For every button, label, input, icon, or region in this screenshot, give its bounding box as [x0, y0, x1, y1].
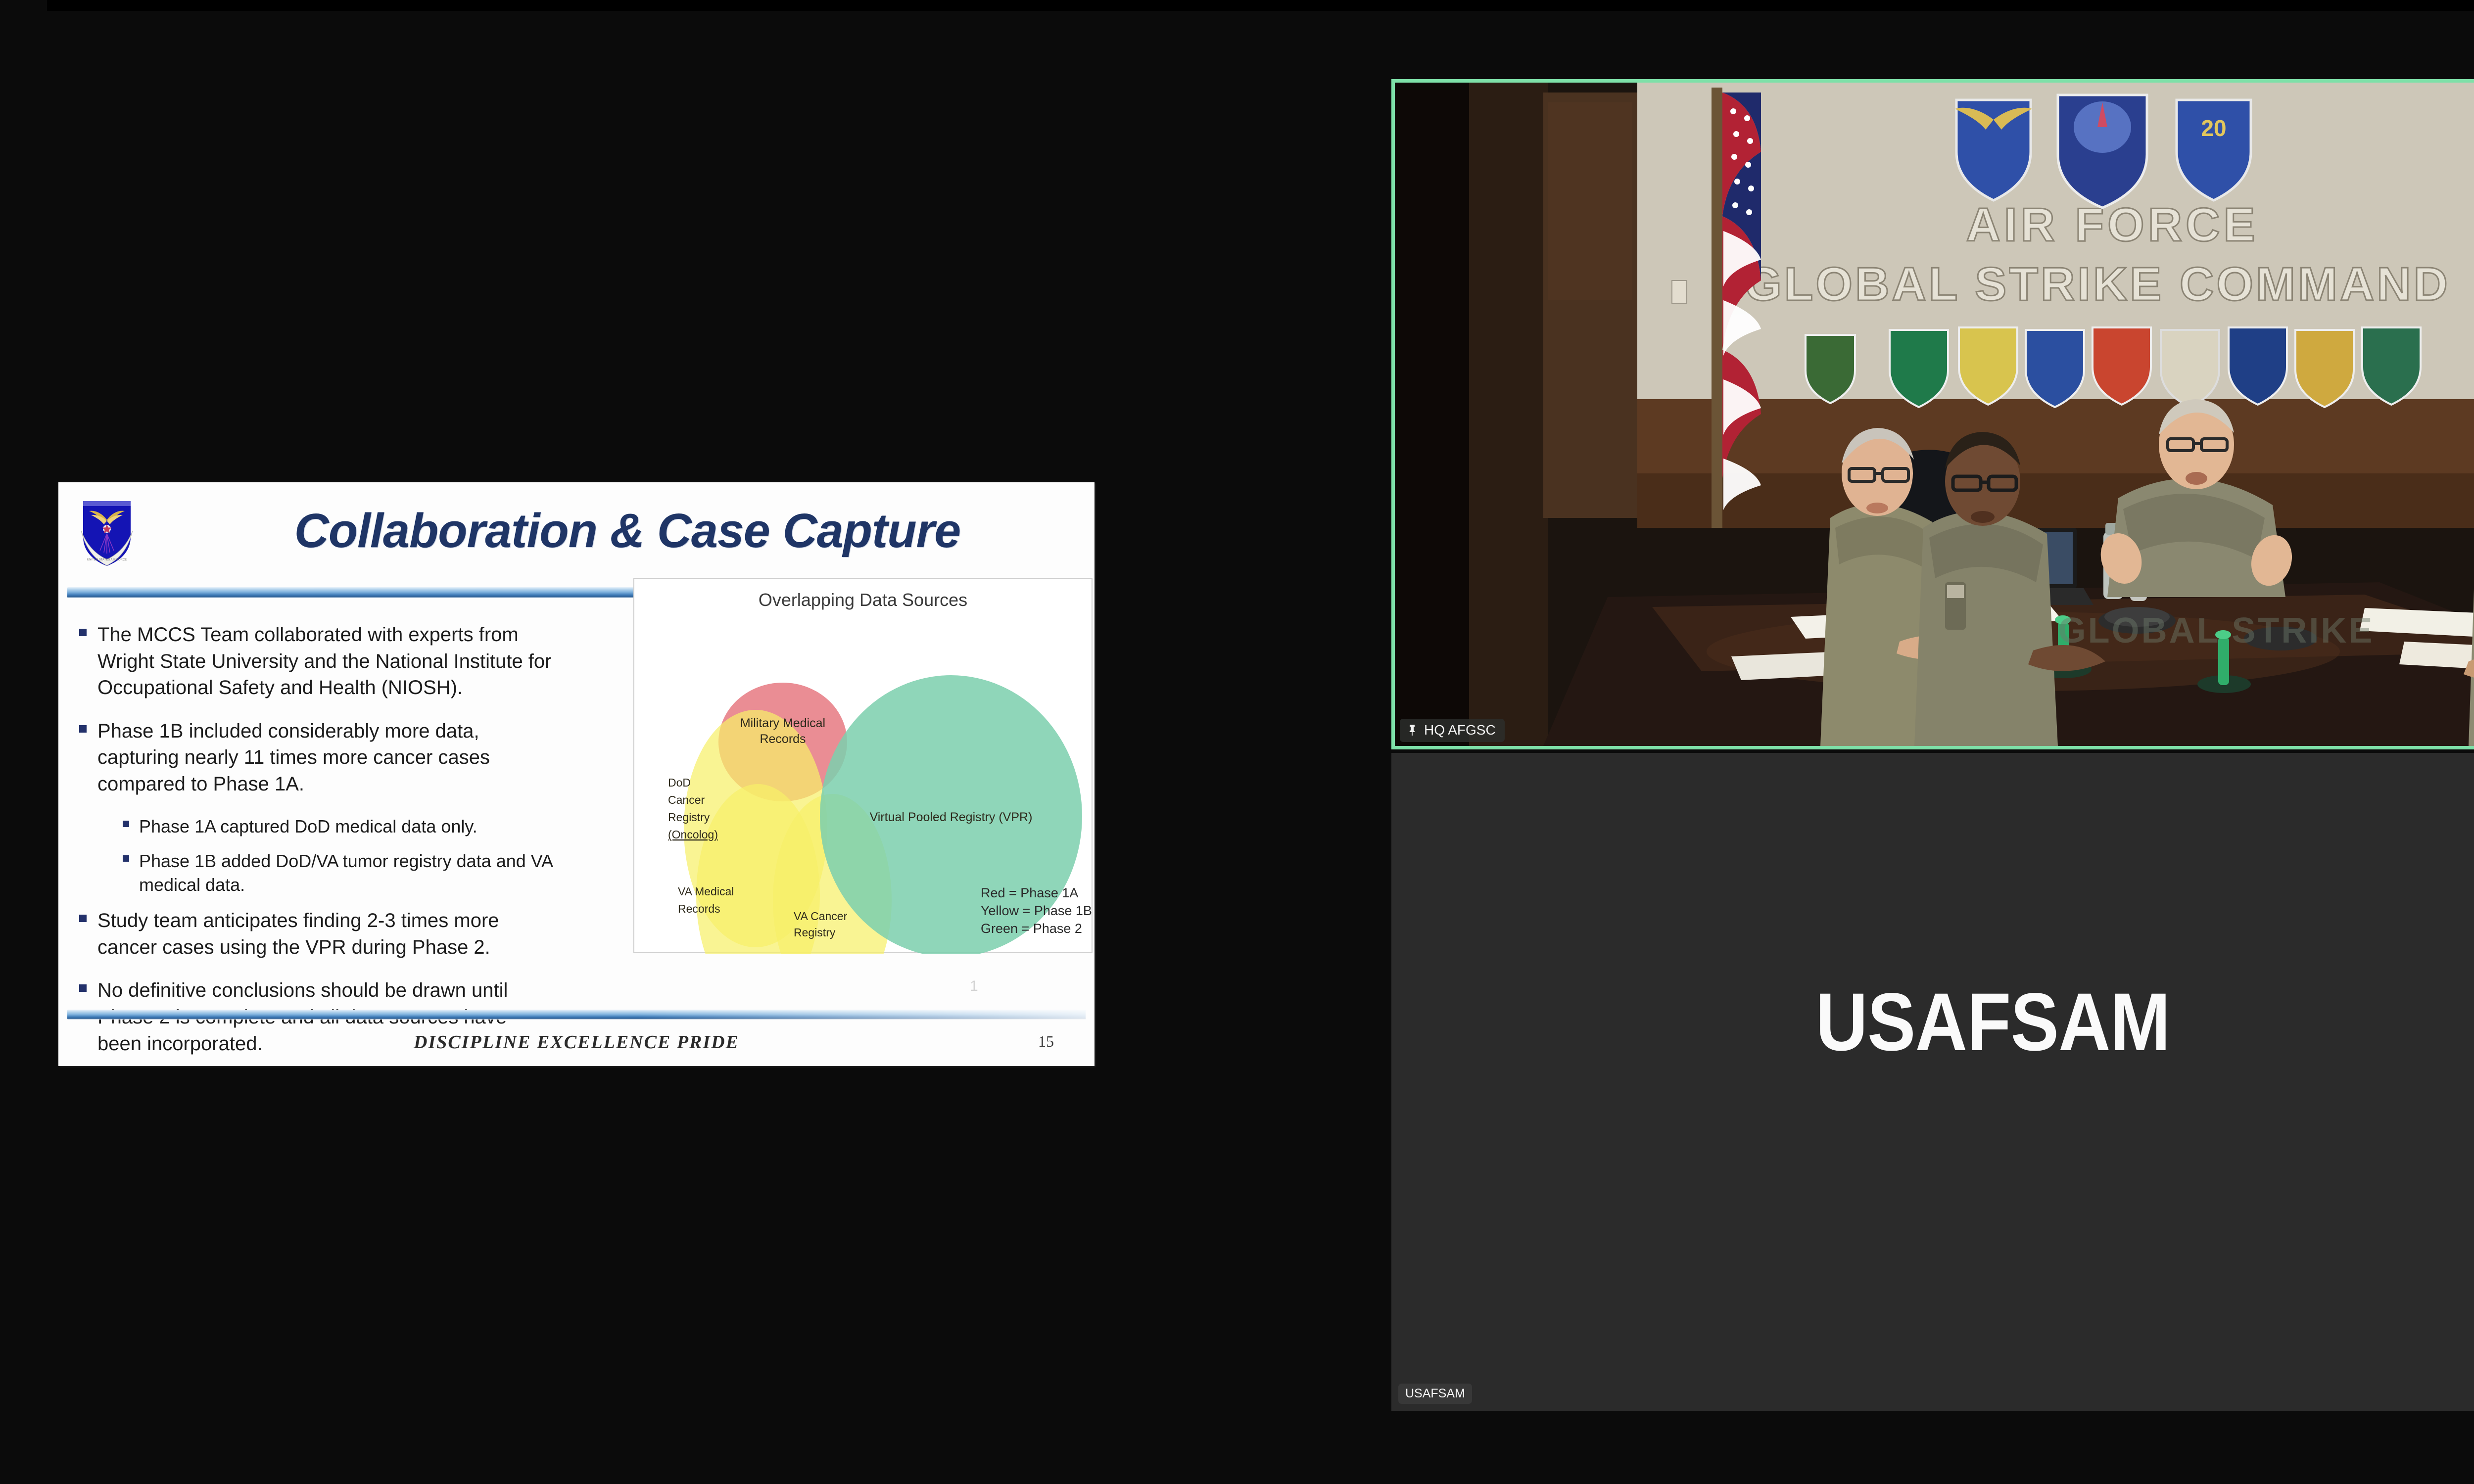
bullet-square-icon — [79, 984, 87, 992]
bullet-square-icon — [123, 855, 129, 862]
bullet-text: Phase 1B added DoD/VA tumor registry dat… — [139, 849, 554, 897]
venn-diagram-svg: Military Medical Records DoD Cancer Regi… — [634, 579, 1094, 954]
bullet-text: Study team anticipates finding 2-3 times… — [97, 908, 554, 961]
screen-share-stage: UNITED STATES AIR FORCE Collaboration & … — [0, 0, 2474, 1484]
venn-legend-item-green: Green = Phase 2 — [981, 921, 1082, 936]
venn-label-va-medical-line2: Records — [678, 902, 720, 915]
svg-text:UNITED STATES AIR FORCE: UNITED STATES AIR FORCE — [87, 558, 127, 561]
air-force-seal-icon: UNITED STATES AIR FORCE — [79, 498, 135, 567]
bullet-item: Study team anticipates finding 2-3 times… — [79, 908, 554, 961]
venn-label-vpr: Virtual Pooled Registry (VPR) — [870, 810, 1033, 824]
slide-bullet-list: The MCCS Team collaborated with experts … — [79, 622, 554, 1074]
venn-label-military-line2: Records — [760, 732, 806, 746]
unit-patch-group-top: 20 — [1955, 95, 2251, 208]
slide-footer-motto: DISCIPLINE EXCELLENCE PRIDE — [58, 1031, 1094, 1053]
bullet-text: Phase 1A captured DoD medical data only. — [139, 815, 477, 838]
table-reflection-text: GLOBAL STRIKE — [2058, 611, 2375, 650]
venn-legend-item-yellow: Yellow = Phase 1B — [981, 903, 1092, 918]
svg-text:20: 20 — [2201, 115, 2226, 141]
pin-icon — [1406, 724, 1418, 737]
usafsam-display-word: USAFSAM — [1464, 694, 2474, 1351]
bullet-square-icon — [79, 725, 87, 733]
venn-label-va-cancer-line1: VA Cancer — [794, 910, 848, 923]
footer-divider-fade — [67, 1010, 1086, 1020]
bullet-square-icon — [79, 629, 87, 636]
wall-text-line1: AIR FORCE — [1966, 198, 2259, 251]
slide-title: Collaboration & Case Capture — [207, 503, 1048, 558]
bullet-text: The MCCS Team collaborated with experts … — [97, 622, 554, 701]
venn-label-va-medical-line1: VA Medical — [678, 885, 734, 898]
bullet-item: Phase 1B added DoD/VA tumor registry dat… — [123, 849, 554, 897]
bullet-square-icon — [79, 915, 87, 922]
venn-label-dod-line3: Registry — [668, 811, 710, 824]
video-tile-usafsam[interactable]: USAFSAM USAFSAM — [1391, 753, 2474, 1411]
shared-slide: UNITED STATES AIR FORCE Collaboration & … — [58, 482, 1094, 1066]
venn-label-dod-line4: (Oncolog) — [668, 828, 718, 841]
slide-page-number: 15 — [1038, 1032, 1054, 1051]
venn-label-dod-line1: DoD — [668, 776, 691, 789]
bullet-item: The MCCS Team collaborated with experts … — [79, 622, 554, 701]
bullet-square-icon — [123, 821, 129, 827]
wall-text-line2: GLOBAL STRIKE COMMAND — [1745, 258, 2450, 311]
video-feed-scene: AIR FORCE GLOBAL STRIKE COMMAND 20 — [1395, 83, 2474, 746]
venn-label-military-line1: Military Medical — [740, 716, 825, 730]
bullet-text: Phase 1B included considerably more data… — [97, 718, 554, 798]
bullet-item: Phase 1A captured DoD medical data only. — [123, 815, 554, 838]
venn-label-va-cancer-line2: Registry — [794, 926, 836, 939]
top-black-strip — [47, 0, 2474, 11]
slide-ghost-number: 1 — [970, 978, 978, 995]
participant-name-tag: USAFSAM — [1398, 1384, 1472, 1404]
venn-label-dod-line2: Cancer — [668, 793, 705, 806]
venn-diagram-figure: Overlapping Data Sources Military Medica… — [633, 578, 1093, 953]
video-tile-hq-afgsc[interactable]: AIR FORCE GLOBAL STRIKE COMMAND 20 — [1391, 79, 2474, 749]
participant-name-text: USAFSAM — [1405, 1387, 1465, 1401]
venn-legend-item-red: Red = Phase 1A — [981, 885, 1078, 900]
bullet-item: Phase 1B included considerably more data… — [79, 718, 554, 798]
